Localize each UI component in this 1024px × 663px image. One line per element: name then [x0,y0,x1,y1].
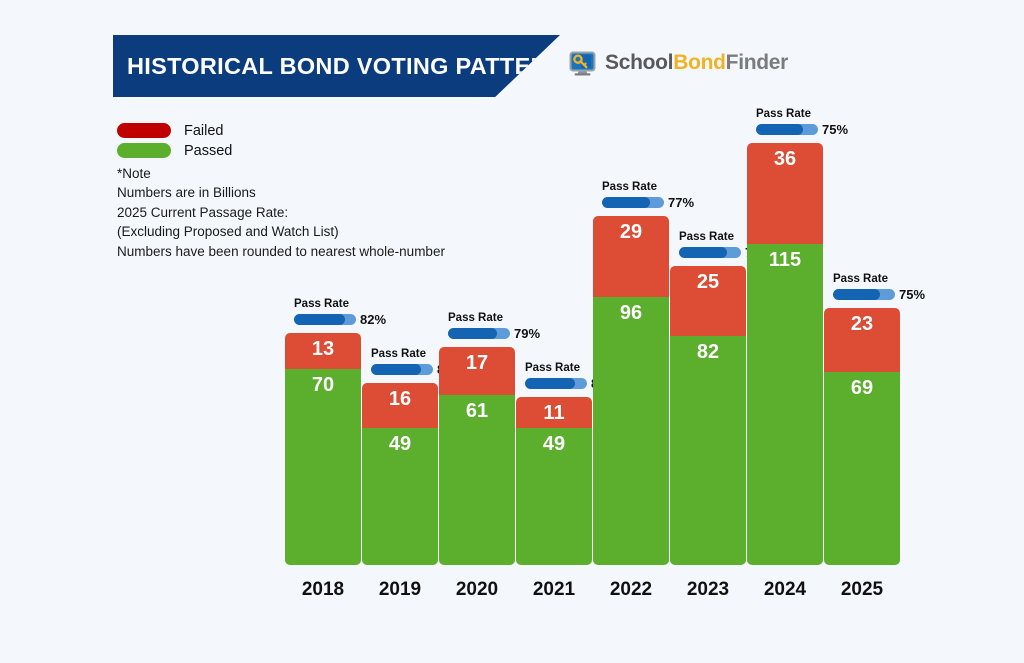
pass-rate-meter-fill-2021 [525,378,575,389]
bar-segment-failed-2025[interactable]: 23 [824,308,900,372]
pass-rate-title-2025: Pass Rate [833,273,951,285]
bar-value-failed-2025: 23 [851,313,873,336]
stacked-bar-chart: 13702018Pass Rate82%16492019Pass Rate80%… [0,0,1024,663]
stacked-bar-2019[interactable]: 1649 [362,383,438,565]
bar-value-failed-2020: 17 [466,352,488,375]
x-axis-label-2019: 2019 [362,579,438,601]
bar-segment-passed-2021[interactable]: 49 [516,428,592,565]
bar-value-failed-2018: 13 [312,338,334,361]
bar-group-2021[interactable]: 11492021 [516,0,592,663]
pass-rate-callout-2025: Pass Rate75% [833,273,951,302]
bar-group-2024[interactable]: 361152024 [747,0,823,663]
bar-value-failed-2023: 25 [697,271,719,294]
bar-segment-passed-2020[interactable]: 61 [439,395,515,565]
pass-rate-meter-2020 [448,328,510,339]
bar-value-failed-2019: 16 [389,388,411,411]
pass-rate-meter-2025 [833,289,895,300]
bar-value-passed-2019: 49 [389,433,411,456]
stacked-bar-2022[interactable]: 2996 [593,216,669,565]
stacked-bar-2024[interactable]: 36115 [747,143,823,565]
bar-segment-failed-2018[interactable]: 13 [285,333,361,369]
pass-rate-meter-fill-2025 [833,289,880,300]
bar-segment-passed-2019[interactable]: 49 [362,428,438,565]
pass-rate-meter-row-2025: 75% [833,287,951,302]
bar-value-failed-2021: 11 [543,402,564,425]
pass-rate-meter-2023 [679,247,741,258]
x-axis-label-2022: 2022 [593,579,669,601]
x-axis-label-2021: 2021 [516,579,592,601]
bar-segment-failed-2022[interactable]: 29 [593,216,669,297]
stacked-bar-2021[interactable]: 1149 [516,397,592,565]
bar-group-2025[interactable]: 23692025 [824,0,900,663]
stacked-bar-2020[interactable]: 1761 [439,347,515,565]
bar-value-passed-2020: 61 [466,400,488,423]
pass-rate-meter-2024 [756,124,818,135]
bar-segment-passed-2018[interactable]: 70 [285,369,361,565]
bar-segment-failed-2024[interactable]: 36 [747,143,823,244]
bar-group-2019[interactable]: 16492019 [362,0,438,663]
pass-rate-meter-2022 [602,197,664,208]
bar-value-failed-2022: 29 [620,221,642,244]
pass-rate-meter-fill-2024 [756,124,803,135]
x-axis-label-2018: 2018 [285,579,361,601]
stacked-bar-2018[interactable]: 1370 [285,333,361,565]
bar-value-passed-2025: 69 [851,377,873,400]
bar-segment-passed-2022[interactable]: 96 [593,297,669,565]
pass-rate-meter-fill-2018 [294,314,345,325]
pass-rate-meter-fill-2020 [448,328,497,339]
x-axis-label-2025: 2025 [824,579,900,601]
bar-value-passed-2022: 96 [620,302,642,325]
x-axis-label-2024: 2024 [747,579,823,601]
bar-segment-failed-2020[interactable]: 17 [439,347,515,395]
x-axis-label-2023: 2023 [670,579,746,601]
pass-rate-meter-fill-2019 [371,364,421,375]
stacked-bar-2025[interactable]: 2369 [824,308,900,565]
bar-value-passed-2023: 82 [697,341,719,364]
bar-segment-failed-2021[interactable]: 11 [516,397,592,428]
bar-segment-failed-2023[interactable]: 25 [670,266,746,336]
bar-segment-passed-2023[interactable]: 82 [670,336,746,565]
bar-value-failed-2024: 36 [774,148,796,171]
pass-rate-meter-2019 [371,364,433,375]
pass-rate-meter-2018 [294,314,356,325]
bar-segment-passed-2025[interactable]: 69 [824,372,900,565]
bar-value-passed-2021: 49 [543,433,565,456]
pass-rate-meter-fill-2022 [602,197,650,208]
bar-segment-failed-2019[interactable]: 16 [362,383,438,428]
bar-value-passed-2024: 115 [769,249,801,272]
bar-segment-passed-2024[interactable]: 115 [747,244,823,565]
pass-rate-meter-2021 [525,378,587,389]
pass-rate-meter-fill-2023 [679,247,727,258]
stacked-bar-2023[interactable]: 2582 [670,266,746,565]
bar-group-2022[interactable]: 29962022 [593,0,669,663]
bar-group-2023[interactable]: 25822023 [670,0,746,663]
bar-group-2018[interactable]: 13702018 [285,0,361,663]
bar-value-passed-2018: 70 [312,374,334,397]
pass-rate-value-2025: 75% [899,287,925,302]
x-axis-label-2020: 2020 [439,579,515,601]
